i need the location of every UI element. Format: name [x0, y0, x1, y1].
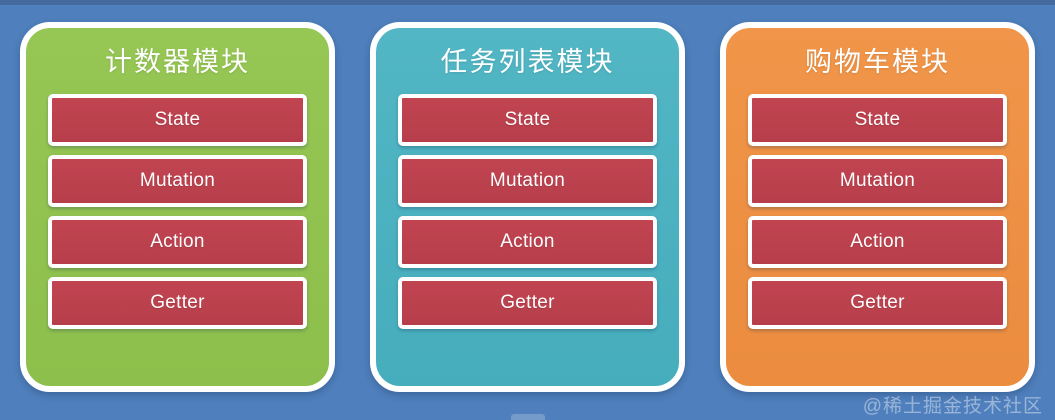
module-item[interactable]: Getter	[748, 277, 1007, 329]
module-panel-green[interactable]: 计数器模块StateMutationActionGetter	[20, 22, 335, 392]
diagram-canvas: 计数器模块StateMutationActionGetter任务列表模块Stat…	[0, 0, 1055, 420]
module-item[interactable]: State	[398, 94, 657, 146]
module-item[interactable]: Getter	[48, 277, 307, 329]
module-item[interactable]: Mutation	[48, 155, 307, 207]
module-item[interactable]: Mutation	[748, 155, 1007, 207]
module-title: 计数器模块	[105, 48, 250, 78]
module-item[interactable]: State	[48, 94, 307, 146]
module-item-list: StateMutationActionGetter	[398, 94, 657, 329]
module-item[interactable]: Action	[48, 216, 307, 268]
module-item[interactable]: Action	[398, 216, 657, 268]
module-item-list: StateMutationActionGetter	[48, 94, 307, 329]
module-title: 任务列表模块	[441, 48, 615, 78]
module-panel-orange[interactable]: 购物车模块StateMutationActionGetter	[720, 22, 1035, 392]
module-item[interactable]: Mutation	[398, 155, 657, 207]
module-item[interactable]: Action	[748, 216, 1007, 268]
module-title: 购物车模块	[805, 48, 950, 78]
module-item[interactable]: Getter	[398, 277, 657, 329]
module-item[interactable]: State	[748, 94, 1007, 146]
module-item-list: StateMutationActionGetter	[748, 94, 1007, 329]
bottom-stub-decoration	[511, 414, 545, 420]
module-panel-teal[interactable]: 任务列表模块StateMutationActionGetter	[370, 22, 685, 392]
